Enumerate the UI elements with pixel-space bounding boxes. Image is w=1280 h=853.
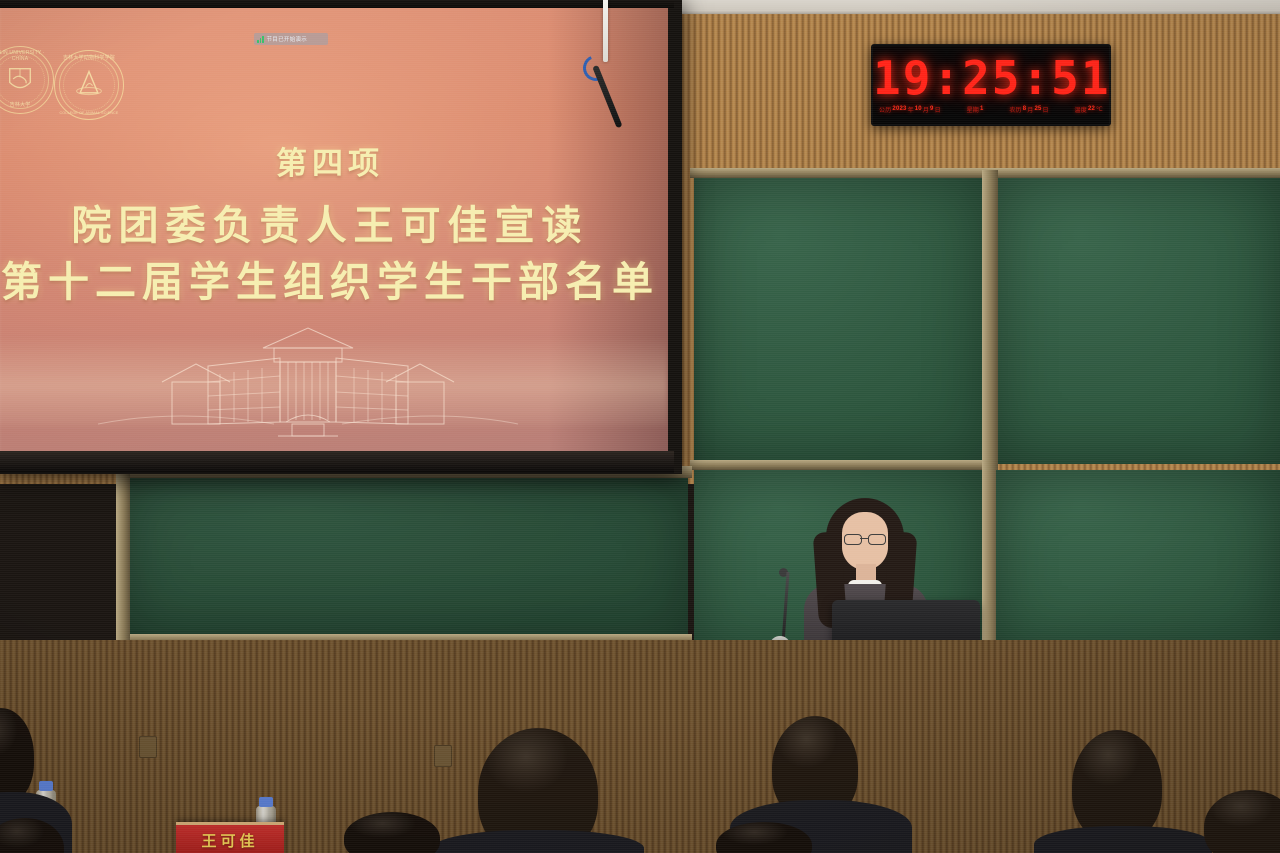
slide-line-1: 第四项 [0, 138, 668, 183]
pointer-rod-icon [603, 0, 608, 62]
clock-solar-date: 公历 2023 年 10 月 9 日 [879, 105, 941, 114]
bottle-cap [39, 781, 53, 791]
clock-day: 9 [930, 106, 934, 112]
board-frame-left-edge [116, 466, 130, 646]
shield-swan-icon [3, 62, 37, 96]
lecture-hall-photo: 节目已开始演示 JILIN UNIVERSITY · CHINA 吉林大学 [0, 0, 1280, 853]
signal-bars-icon [257, 36, 264, 43]
clock-temp-value: 22 [1088, 106, 1095, 112]
name-placard-text: 王可佳 [201, 830, 258, 851]
slide-surface: 节目已开始演示 JILIN UNIVERSITY · CHINA 吉林大学 [0, 8, 668, 460]
clock-weekday-value: 1 [980, 106, 984, 112]
emblem-right-en: COLLEGE OF ANIMAL SCIENCE [55, 111, 123, 115]
notification-text: 节目已开始演示 [267, 35, 308, 43]
chalkboard-panel-left [128, 478, 688, 638]
screen-bottom-bar [0, 451, 674, 473]
speaker-glasses-icon [844, 534, 886, 544]
slide-bottom-glow [0, 336, 668, 426]
projection-screen: 节目已开始演示 JILIN UNIVERSITY · CHINA 吉林大学 [0, 0, 682, 474]
clock-date-row: 公历 2023 年 10 月 9 日 星期 1 农历 8 月 25 日 温度 [879, 101, 1103, 117]
clock-lunar-month-unit: 月 [1027, 105, 1033, 114]
emblem-animal-icon [71, 66, 106, 101]
clock-temp-unit: ℃ [1096, 106, 1103, 113]
clock-weekday-prefix: 星期 [967, 105, 979, 114]
clock-month: 10 [915, 106, 922, 112]
clock-temp-prefix: 温度 [1075, 105, 1087, 114]
clock-lunar-day: 25 [1034, 106, 1041, 112]
bottle-cap [259, 797, 273, 807]
slide-line-2: 院团委负责人王可佳宣读 [0, 193, 668, 251]
wall-outlet-left [139, 736, 157, 758]
digital-wall-clock: 19:25:51 公历 2023 年 10 月 9 日 星期 1 农历 8 月 … [871, 44, 1111, 126]
clock-lunar-prefix: 农历 [1009, 105, 1021, 114]
chalkboard-panel [996, 470, 1280, 652]
emblem-left-en: JILIN UNIVERSITY · CHINA [0, 50, 53, 62]
screen-roller [0, 0, 674, 8]
college-emblem-icon: 吉林大学动物科学学院 COLLEGE OF ANIMAL SCIENCE [54, 50, 124, 120]
clock-month-unit: 月 [923, 105, 929, 114]
chalkboard-panel [694, 178, 984, 464]
clock-time-display: 19:25:51 [873, 51, 1109, 105]
clock-lunar-date: 农历 8 月 25 日 [1009, 105, 1048, 114]
audience-shoulders [1034, 826, 1212, 853]
name-placard: 王可佳 [176, 822, 284, 853]
clock-lunar-day-unit: 日 [1043, 105, 1049, 114]
emblem-shield-icon [3, 62, 37, 96]
board-frame-mid [690, 460, 982, 470]
clock-temperature: 温度 22 ℃ [1075, 105, 1103, 114]
presentation-notification-bar: 节目已开始演示 [254, 33, 328, 45]
slide-line-3: 第十二届学生组织学生干部名单 [0, 248, 668, 308]
clock-weekday: 星期 1 [967, 105, 984, 114]
chalkboard-panel [996, 178, 1280, 464]
emblem-right-cn: 吉林大学动物科学学院 [55, 54, 123, 61]
jlu-emblem-icon: JILIN UNIVERSITY · CHINA 吉林大学 [0, 46, 54, 114]
horse-mark-icon [71, 66, 106, 101]
clock-year-unit: 年 [908, 105, 914, 114]
clock-lunar-month: 8 [1023, 106, 1027, 112]
clock-year: 2023 [892, 106, 906, 112]
wall-outlet-right [434, 745, 452, 767]
clock-day-unit: 日 [935, 105, 941, 114]
emblem-left-cn: 吉林大学 [0, 101, 53, 108]
clock-solar-prefix: 公历 [879, 105, 891, 114]
